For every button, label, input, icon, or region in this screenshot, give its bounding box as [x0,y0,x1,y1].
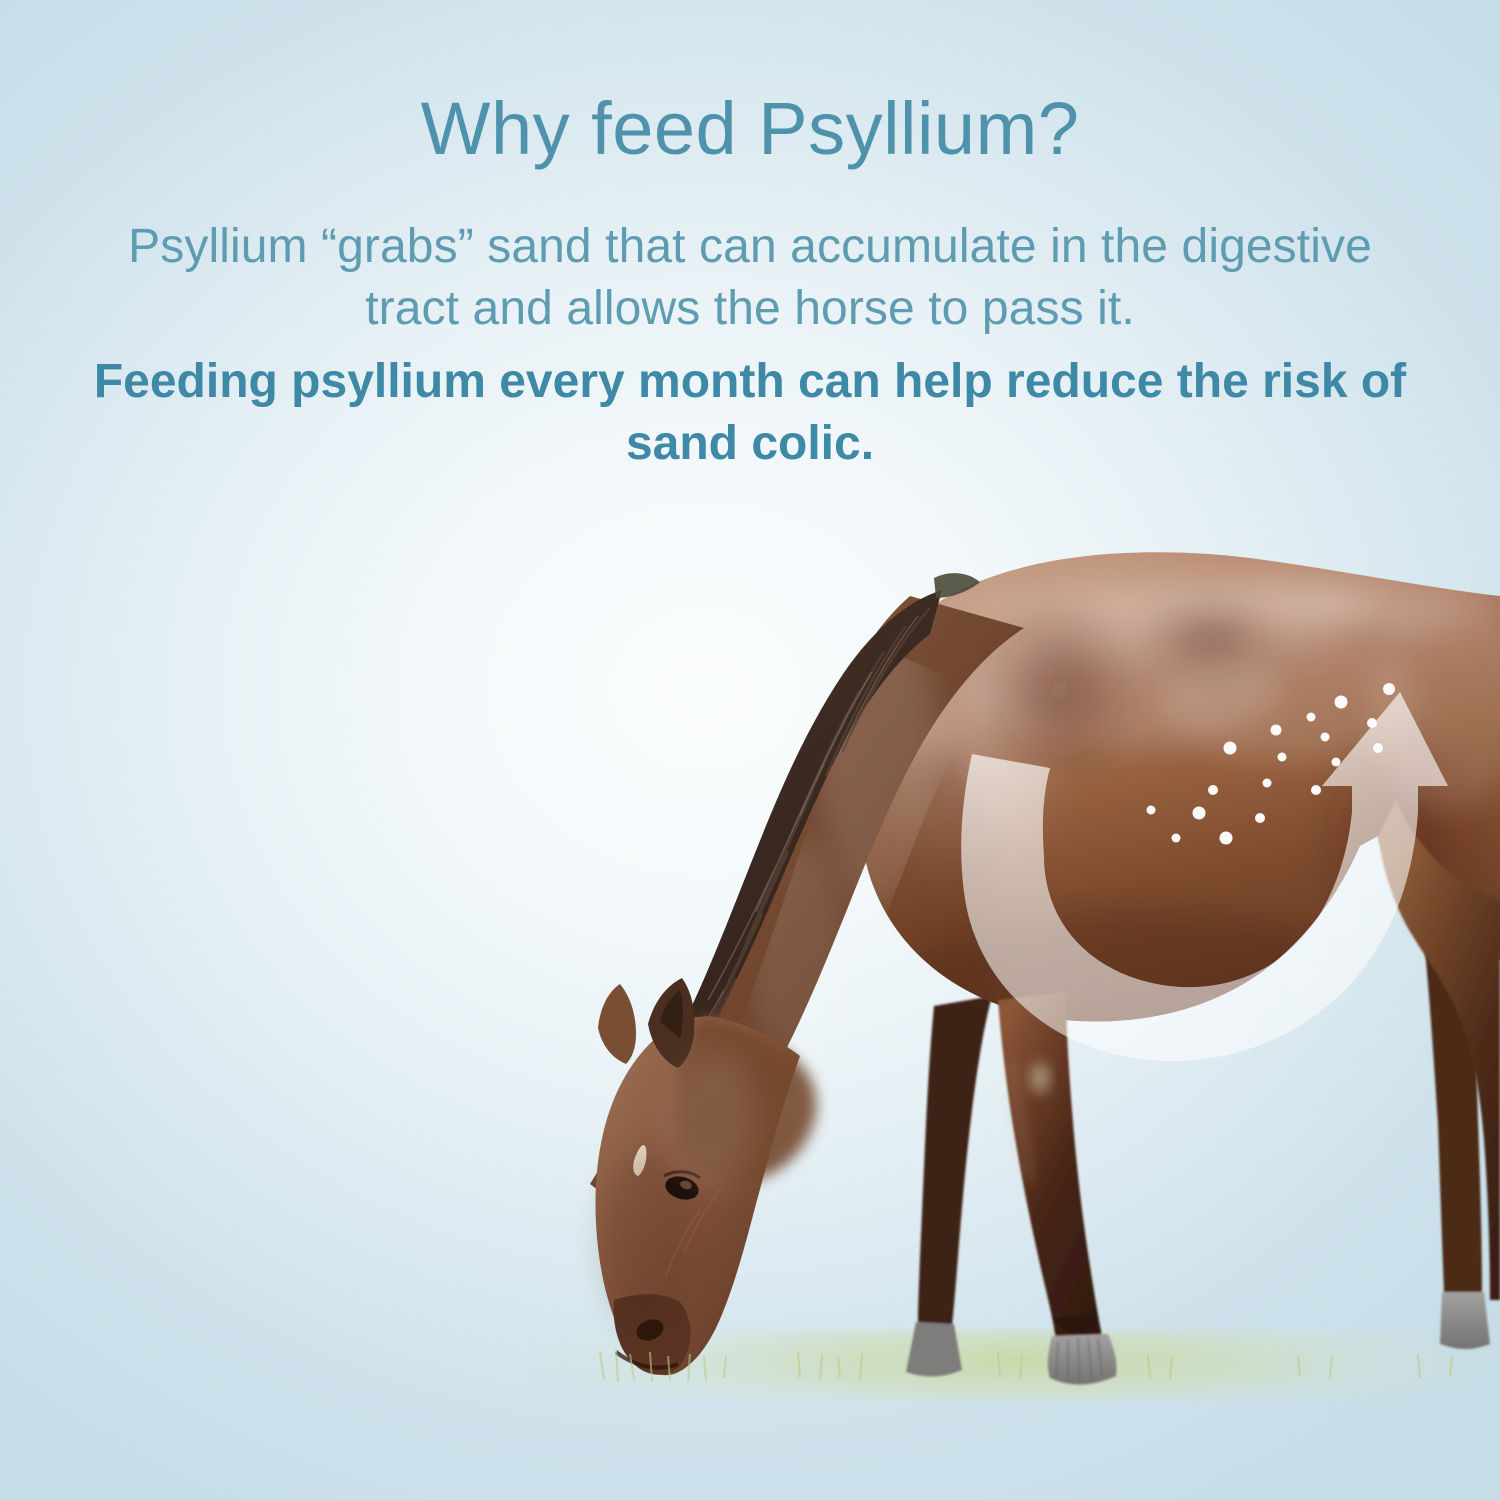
infographic-canvas: Why feed Psyllium? Psyllium “grabs” sand… [0,0,1500,1500]
body-paragraph: Psyllium “grabs” sand that can accumulat… [105,166,1395,341]
near-foreleg [998,992,1117,1385]
body-paragraph-bold: Feeding psyllium every month can help re… [70,341,1430,476]
page-title: Why feed Psyllium? [0,0,1500,166]
far-foreleg [906,996,992,1377]
grass-blades [600,1350,1452,1382]
text-block: Why feed Psyllium? Psyllium “grabs” sand… [0,0,1500,476]
